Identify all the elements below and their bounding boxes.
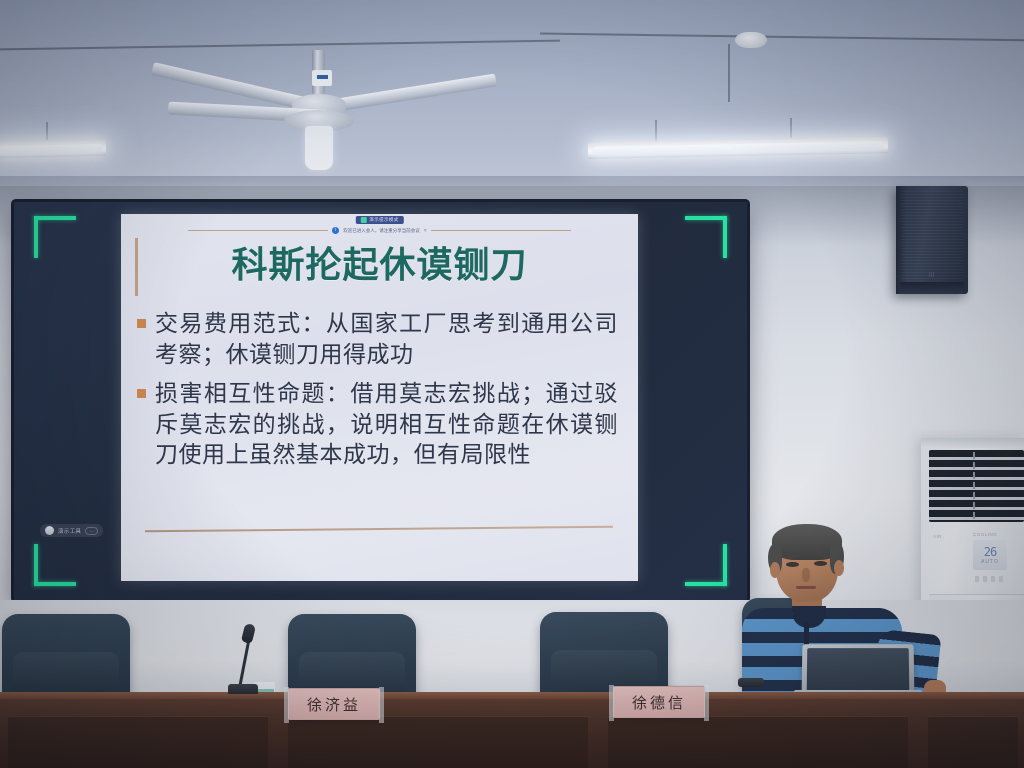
person-ear [770,562,780,578]
slide-footer-rule [145,526,613,532]
speaker-grille [901,191,963,280]
ceiling-wire-vertical [728,44,730,102]
notification-rule-left [188,230,328,231]
ac-louver-tabs [973,452,975,520]
flat-panel-display[interactable]: 演示工具 … 演示提示模式 i 欢迎已进入会人，请注重分享当前会议 × 科斯抡起 [14,202,747,600]
laptop[interactable] [802,644,915,694]
fan-label-tag [312,70,332,86]
ceiling [0,0,1024,190]
ceiling-fan [318,50,324,56]
presenter-toolbar[interactable]: 演示工具 … [40,524,103,537]
ac-top-cap [921,438,1024,448]
ac-louvers [929,450,1024,522]
notification-rule-right [431,230,571,231]
nameplate: 徐济益 [288,688,380,720]
speaker-base [900,282,964,294]
ac-display: 26 AUTO [973,540,1007,570]
lamp-hanger [655,120,657,142]
table-edge [0,692,1024,699]
speaker-logo: ||| [929,272,935,278]
notification-pill[interactable]: 演示提示模式 [355,216,403,224]
table-front-panel [928,716,1018,768]
bullet-marker-icon [137,319,146,328]
info-icon: i [332,227,339,234]
wall-speaker: ||| [896,186,968,294]
laptop-screen [807,648,910,691]
presenter-toolbar-chip[interactable]: … [85,527,98,535]
presenter-toolbar-label: 演示工具 [58,527,81,535]
person-ear [834,560,844,576]
person-eye [814,561,827,566]
microphone-base [228,684,258,694]
bullet-marker-icon [137,389,146,398]
lamp-tube [592,141,884,155]
nameplate-text: 徐德信 [632,692,686,713]
bullet-text: 交易费用范式：从国家工厂思考到通用公司考察；休谟铡刀用得成功 [155,309,618,370]
smoke-detector-icon [735,32,767,48]
ac-model-label: COOLING [973,532,997,537]
ac-mode-label: AUTO [973,559,1007,565]
person-nose [802,568,810,582]
microphone-base [738,678,764,687]
notification-pill-icon [360,217,366,223]
fan-light-icon [305,126,333,170]
table-front-panel [608,716,908,768]
notification-pill-text: 演示提示模式 [369,217,398,223]
person-eye [786,562,799,567]
notification-message: 欢迎已进入会人，请注重分享当前会议 [343,228,420,234]
notification-bar: i 欢迎已进入会人，请注重分享当前会议 × [121,227,638,234]
slide-title: 科斯抡起休谟铡刀 [121,236,638,288]
presenter-toolbar-icon [45,526,54,535]
ac-temperature: 26 [973,545,1007,559]
lamp-tube [0,144,102,154]
table-front-panel [288,716,588,768]
presentation-slide: 演示提示模式 i 欢迎已进入会人，请注重分享当前会议 × 科斯抡起休谟铡刀 交易… [121,214,638,581]
list-item: 交易费用范式：从国家工厂思考到通用公司考察；休谟铡刀用得成功 [137,309,618,370]
slide-bullet-list: 交易费用范式：从国家工厂思考到通用公司考察；休谟铡刀用得成功 损害相互性命题：借… [137,309,618,480]
close-icon[interactable]: × [424,228,427,234]
bullet-text: 损害相互性命题：借用莫志宏挑战；通过驳斥莫志宏的挑战，说明相互性命题在休谟铡刀使… [155,379,618,471]
ac-control-buttons[interactable] [975,576,1007,582]
fluorescent-lamp-left [0,139,106,159]
table-front-panel [8,716,268,768]
list-item: 损害相互性命题：借用莫志宏挑战；通过驳斥莫志宏的挑战，说明相互性命题在休谟铡刀使… [137,379,618,471]
nameplate: 徐德信 [613,686,705,718]
lecture-hall-photo: ||| AIR COOLING 26 AUTO 演示工具 … [0,0,1024,768]
person-mouth [796,586,816,589]
nameplate-text: 徐济益 [307,694,361,715]
